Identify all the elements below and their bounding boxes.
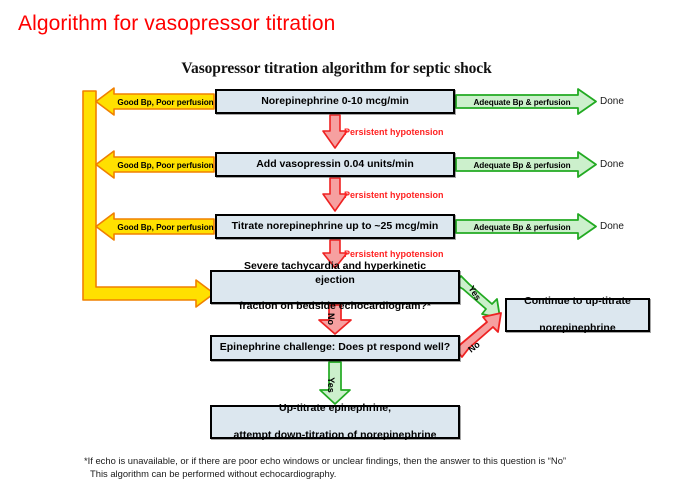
node-echo-label-line1: Severe tachycardia and hyperkinetic ejec…: [218, 260, 452, 287]
edge-label-good-bp-2: Good Bp, Poor perfusion: [116, 161, 215, 170]
edge-label-hypotension-3: Persistent hypotension: [344, 249, 444, 259]
node-vasopressin[interactable]: Add vasopressin 0.04 units/min: [215, 152, 455, 177]
red-arrow-epi-no: [455, 313, 501, 357]
yellow-feedback-loop-arrow: [83, 91, 214, 307]
footnote-line1: *If echo is unavailable, or if there are…: [84, 455, 566, 466]
node-norepinephrine-label: Norepinephrine 0-10 mcg/min: [255, 95, 415, 108]
footnote-line2: This algorithm can be performed without …: [84, 467, 654, 480]
edge-label-adequate-3: Adequate Bp & perfusion: [458, 223, 586, 232]
edge-label-good-bp-1: Good Bp, Poor perfusion: [116, 98, 215, 107]
node-continue-label-line2: norepinephrine: [518, 322, 637, 335]
terminal-done-1: Done: [600, 96, 624, 107]
node-continue-label-line1: Continue to up-titrate: [518, 295, 637, 308]
edge-label-hypotension-2: Persistent hypotension: [344, 190, 444, 200]
edge-label-hypotension-1: Persistent hypotension: [344, 127, 444, 137]
edge-label-good-bp-3: Good Bp, Poor perfusion: [116, 223, 215, 232]
terminal-done-2: Done: [600, 159, 624, 170]
node-echo-label-line2: fraction on bedside echocardiogram?*: [218, 300, 452, 313]
node-uptitrate-label-line1: Up-titrate epinephrine,: [228, 402, 443, 415]
node-vasopressin-label: Add vasopressin 0.04 units/min: [250, 158, 420, 171]
node-titrate-label: Titrate norepinephrine up to ~25 mcg/min: [226, 220, 445, 233]
edge-label-adequate-1: Adequate Bp & perfusion: [458, 98, 586, 107]
node-norepinephrine[interactable]: Norepinephrine 0-10 mcg/min: [215, 89, 455, 114]
node-continue-uptitrate[interactable]: Continue to up-titrate norepinephrine: [505, 298, 650, 332]
edge-label-epi-yes: Yes: [326, 377, 336, 393]
node-echo-decision[interactable]: Severe tachycardia and hyperkinetic ejec…: [210, 270, 460, 304]
terminal-done-3: Done: [600, 221, 624, 232]
node-uptitrate-epinephrine[interactable]: Up-titrate epinephrine, attempt down-tit…: [210, 405, 460, 439]
edge-label-adequate-2: Adequate Bp & perfusion: [458, 161, 586, 170]
node-titrate-norepinephrine[interactable]: Titrate norepinephrine up to ~25 mcg/min: [215, 214, 455, 239]
node-epinephrine-challenge[interactable]: Epinephrine challenge: Does pt respond w…: [210, 335, 460, 361]
edge-label-echo-no: No: [326, 313, 336, 325]
node-epinephrine-challenge-label: Epinephrine challenge: Does pt respond w…: [214, 341, 456, 354]
node-uptitrate-label-line2: attempt down-titration of norepinephrine: [228, 429, 443, 442]
footnote: *If echo is unavailable, or if there are…: [84, 454, 654, 481]
